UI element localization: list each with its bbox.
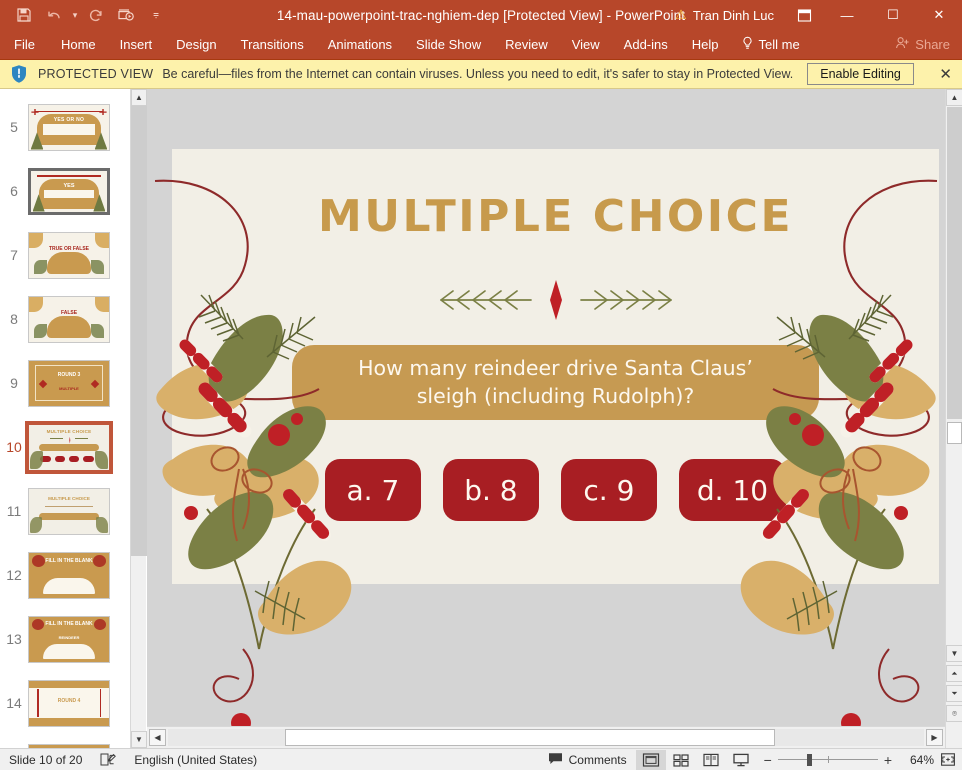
thumbnail-scroll-up-button[interactable]: ▲ xyxy=(131,89,147,106)
account-chip[interactable]: ⚠ Tran Dinh Luc xyxy=(665,7,784,23)
thumbnail-scroll-thumb[interactable] xyxy=(131,106,147,556)
thumbnail-preview[interactable]: FILL IN THE BLANK xyxy=(28,552,110,599)
comments-label: Comments xyxy=(569,753,627,767)
tell-me-label: Tell me xyxy=(759,37,800,52)
zoom-level-label[interactable]: 64% xyxy=(900,753,934,767)
thumbnail-preview-selected[interactable]: MULTIPLE CHOICE xyxy=(28,424,110,471)
thumbnail-preview[interactable]: TRUE OR FALSE xyxy=(28,232,110,279)
slide-horizontal-scrollbar[interactable]: ◀ ▶ xyxy=(147,726,945,748)
zoom-slider[interactable]: − + xyxy=(756,752,900,768)
undo-icon[interactable] xyxy=(40,3,68,27)
slide-title: MULTIPLE CHOICE xyxy=(172,191,939,242)
status-bar: Slide 10 of 20 English (United States) C… xyxy=(0,748,962,770)
slide-scroll-up-button[interactable]: ▲ xyxy=(946,89,962,106)
protected-view-bar: PROTECTED VIEW Be careful—files from the… xyxy=(0,59,962,89)
thumbnail-title: MULTIPLE CHOICE xyxy=(29,496,109,501)
thumbnail-number: 10 xyxy=(0,439,28,455)
enable-editing-button[interactable]: Enable Editing xyxy=(807,63,914,85)
tab-slide-show[interactable]: Slide Show xyxy=(404,32,493,58)
slide-thumbnail-pane[interactable]: 5 YES OR NO 6 xyxy=(0,89,130,748)
thumbnail-slide-6[interactable]: 6 YES xyxy=(0,159,130,223)
thumbnail-slide-14[interactable]: 14 ROUND 4 xyxy=(0,671,130,735)
slide-scroll-page-box[interactable] xyxy=(947,422,962,444)
thumbnail-number: 11 xyxy=(0,503,28,519)
thumbnail-number: 14 xyxy=(0,695,28,711)
start-from-beginning-icon[interactable] xyxy=(112,3,140,27)
ribbon-tab-bar: File Home Insert Design Transitions Anim… xyxy=(0,30,962,59)
tab-file[interactable]: File xyxy=(0,32,49,58)
thumbnail-slide-8[interactable]: 8 FALSE xyxy=(0,287,130,351)
protected-view-message: Be careful—files from the Internet can c… xyxy=(162,67,793,81)
thumbnail-slide-9[interactable]: 9 ROUND 3 MULTIPLE xyxy=(0,351,130,415)
title-bar-right: ⚠ Tran Dinh Luc — ☐ ✕ xyxy=(665,0,962,30)
thumbnail-number: 9 xyxy=(0,375,28,391)
slide-vertical-scrollbar[interactable]: ▲ ▼ ⏶ ⏷ ⌾ xyxy=(945,89,962,748)
tab-insert[interactable]: Insert xyxy=(108,32,165,58)
powerpoint-window: ▾ ⩦ 14-mau-powerpoint-trac-nghiem-dep [P… xyxy=(0,0,962,770)
thumbnail-title: YES xyxy=(31,183,107,189)
thumbnail-number: 6 xyxy=(0,183,28,199)
lightbulb-icon xyxy=(741,36,754,53)
tab-review[interactable]: Review xyxy=(493,32,560,58)
slide-edit-area[interactable]: MULTIPLE CHOICE xyxy=(147,89,945,748)
zoom-track-tick xyxy=(828,756,829,763)
thumbnail-number: 5 xyxy=(0,119,28,135)
thumbnail-slide-15[interactable]: 15 xyxy=(0,735,130,748)
tab-animations[interactable]: Animations xyxy=(316,32,404,58)
thumbnail-scroll-down-button[interactable]: ▼ xyxy=(131,731,147,748)
thumbnail-title: YES OR NO xyxy=(29,117,109,123)
title-bar: ▾ ⩦ 14-mau-powerpoint-trac-nghiem-dep [P… xyxy=(0,0,962,30)
protected-view-close-icon[interactable]: ✕ xyxy=(939,65,952,83)
tab-home[interactable]: Home xyxy=(49,32,108,58)
thumbnail-title: ROUND 4 xyxy=(29,698,109,704)
thumbnail-slide-13[interactable]: 13 FILL IN THE BLANK REINDEER xyxy=(0,607,130,671)
save-icon[interactable] xyxy=(10,3,38,27)
zoom-out-button[interactable]: − xyxy=(764,752,772,768)
thumbnail-slide-12[interactable]: 12 FILL IN THE BLANK xyxy=(0,543,130,607)
tab-add-ins[interactable]: Add-ins xyxy=(612,32,680,58)
thumbnail-preview[interactable]: FILL IN THE BLANK REINDEER xyxy=(28,616,110,663)
tell-me-search[interactable]: Tell me xyxy=(731,36,810,53)
previous-slide-button[interactable]: ⏶ xyxy=(946,665,962,682)
customize-quick-access-icon[interactable]: ⩦ xyxy=(142,3,170,27)
slide-show-button[interactable] xyxy=(726,750,756,770)
thumbnail-slide-5[interactable]: 5 YES OR NO xyxy=(0,95,130,159)
answer-option-c[interactable]: c. 9 xyxy=(561,459,657,521)
thumbnail-preview[interactable]: MULTIPLE CHOICE xyxy=(28,488,110,535)
status-bar-right: Comments − + 6 xyxy=(539,750,962,770)
comment-bubble-icon xyxy=(548,752,563,768)
slide-scroll-thumb[interactable] xyxy=(947,107,962,419)
question-text: How many reindeer drive Santa Claus’ sle… xyxy=(330,355,781,410)
question-box: How many reindeer drive Santa Claus’ sle… xyxy=(292,345,819,420)
normal-view-button[interactable] xyxy=(636,750,666,770)
thumbnail-number: 7 xyxy=(0,247,28,263)
zoom-in-button[interactable]: + xyxy=(884,752,892,768)
accessibility-checker-button[interactable] xyxy=(91,752,125,767)
undo-dropdown-icon[interactable]: ▾ xyxy=(70,3,80,27)
tab-transitions[interactable]: Transitions xyxy=(229,32,316,58)
account-name: Tran Dinh Luc xyxy=(693,8,774,23)
thumbnail-preview[interactable]: YES OR NO xyxy=(28,104,110,151)
slide-scroll-left-button[interactable]: ◀ xyxy=(149,729,166,746)
workspace: 5 YES OR NO 6 xyxy=(0,89,962,748)
answer-options: a. 7 b. 8 c. 9 d. 10 xyxy=(172,459,939,521)
thumbnail-slide-7[interactable]: 7 TRUE OR FALSE xyxy=(0,223,130,287)
ribbon-display-options-icon[interactable] xyxy=(784,0,824,30)
share-label: Share xyxy=(915,37,950,52)
slide-canvas[interactable]: MULTIPLE CHOICE xyxy=(172,149,939,584)
tab-view[interactable]: View xyxy=(560,32,612,58)
slide-hscroll-track[interactable] xyxy=(168,729,924,746)
arrow-divider-ornament xyxy=(172,277,939,323)
thumbnail-slide-10[interactable]: 10 MULTIPLE CHOICE xyxy=(0,415,130,479)
answer-option-b[interactable]: b. 8 xyxy=(443,459,539,521)
slide-scroll-down-button[interactable]: ▼ xyxy=(946,645,962,662)
ribbon-swirl-bottom-right xyxy=(879,649,918,701)
ribbon-swirl-bottom-left xyxy=(214,649,253,701)
thumbnail-title: MULTIPLE CHOICE xyxy=(29,429,109,434)
slide-sorter-button[interactable] xyxy=(666,750,696,770)
share-button[interactable]: Share xyxy=(895,36,950,53)
next-slide-button[interactable]: ⏷ xyxy=(946,685,962,702)
quick-access-toolbar: ▾ ⩦ xyxy=(0,3,170,27)
thumbnail-number: 13 xyxy=(0,631,28,647)
reading-view-button[interactable] xyxy=(696,750,726,770)
thumbnail-preview[interactable]: FALSE xyxy=(28,296,110,343)
maximize-button[interactable]: ☐ xyxy=(870,0,916,30)
answer-option-a[interactable]: a. 7 xyxy=(325,459,421,521)
shield-icon xyxy=(8,63,30,85)
divider-svg xyxy=(421,277,691,323)
thumbnail-title: FALSE xyxy=(29,310,109,316)
fit-slide-to-window-button[interactable] xyxy=(934,752,962,767)
thumbnail-title: ROUND 3 xyxy=(29,372,109,378)
share-person-icon xyxy=(895,36,910,53)
language-status[interactable]: English (United States) xyxy=(125,753,266,767)
close-button[interactable]: ✕ xyxy=(916,0,962,30)
account-warning-icon: ⚠ xyxy=(675,7,687,23)
thumbnail-title: TRUE OR FALSE xyxy=(29,246,109,252)
comments-button[interactable]: Comments xyxy=(539,752,636,768)
protected-view-label: PROTECTED VIEW xyxy=(38,67,153,81)
minimize-button[interactable]: — xyxy=(824,0,870,30)
answer-option-d[interactable]: d. 10 xyxy=(679,459,786,521)
thumbnail-slide-11[interactable]: 11 MULTIPLE CHOICE xyxy=(0,479,130,543)
slide-hscroll-thumb[interactable] xyxy=(285,729,775,746)
tab-design[interactable]: Design xyxy=(164,32,228,58)
slide-scroll-right-button[interactable]: ▶ xyxy=(926,729,943,746)
thumbnail-number: 12 xyxy=(0,567,28,583)
thumbnail-preview[interactable]: ROUND 3 MULTIPLE xyxy=(28,360,110,407)
redo-icon[interactable] xyxy=(82,3,110,27)
thumbnail-preview[interactable]: YES xyxy=(28,168,110,215)
sparkle-diamond-icon xyxy=(550,280,562,320)
accessibility-icon xyxy=(100,752,116,767)
thumbnail-preview[interactable]: ROUND 4 xyxy=(28,680,110,727)
thumbnail-scrollbar[interactable]: ▲ ▼ xyxy=(130,89,146,748)
return-to-previous-button[interactable]: ⌾ xyxy=(946,705,962,722)
tab-help[interactable]: Help xyxy=(680,32,731,58)
zoom-track[interactable] xyxy=(778,753,878,767)
zoom-handle[interactable] xyxy=(807,754,812,766)
slide-counter[interactable]: Slide 10 of 20 xyxy=(0,753,91,767)
thumbnail-number: 8 xyxy=(0,311,28,327)
